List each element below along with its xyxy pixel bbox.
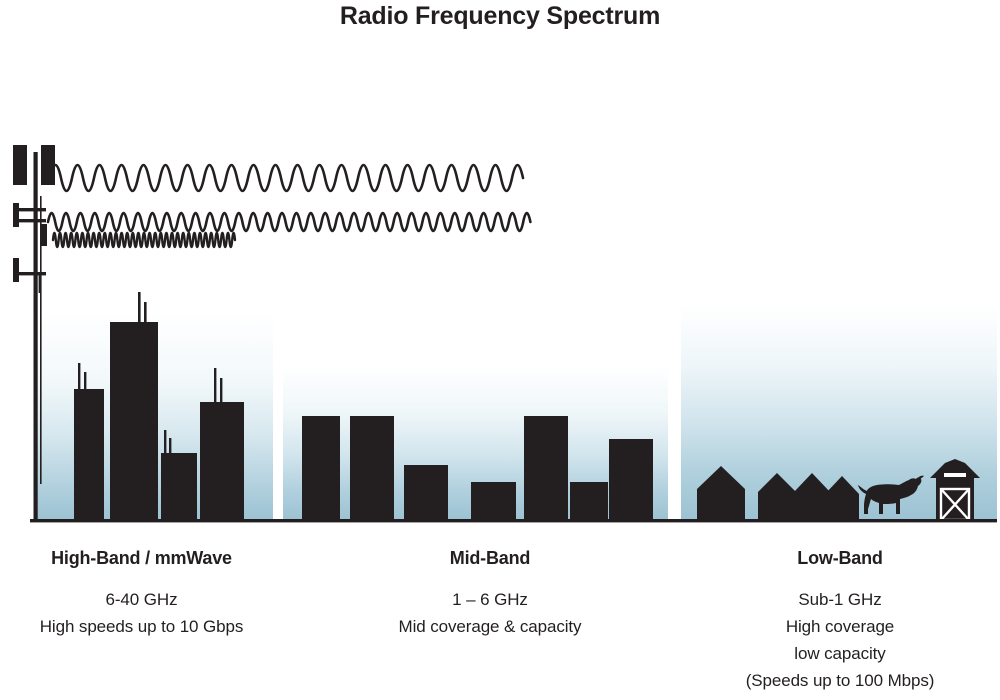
high-frequency-wave <box>53 233 235 247</box>
building-spire <box>220 378 222 404</box>
band-frequency: 1 – 6 GHz <box>340 586 640 613</box>
mid-rise-building <box>471 482 516 520</box>
tower-crossarm-upper-2 <box>17 219 46 222</box>
mid-rise-building <box>570 482 608 520</box>
mid-rise-building <box>404 465 448 520</box>
tower-base-stub <box>39 275 42 293</box>
band-label-low-band: Low-Band <box>680 548 1000 569</box>
band-capacity: low capacity <box>680 640 1000 667</box>
ground-line <box>30 519 997 522</box>
mid-rise-building <box>350 416 394 520</box>
skyscraper <box>110 322 158 520</box>
antenna-panel-middle <box>41 224 47 246</box>
mid-rise-building <box>609 439 653 520</box>
antenna-panel-upper-left <box>13 203 19 227</box>
mid-rise-building <box>524 416 568 520</box>
low-frequency-wave <box>50 165 523 191</box>
band-coverage: High coverage <box>680 613 1000 640</box>
band-frequency: Sub-1 GHz <box>680 586 1000 613</box>
band-detail-mid-band: 1 – 6 GHz Mid coverage & capacity <box>340 586 640 640</box>
building-spire <box>138 292 141 327</box>
mid-rise-building <box>302 416 340 520</box>
band-description: Mid coverage & capacity <box>340 613 640 640</box>
infographic-page: Radio Frequency Spectrum <box>0 0 1000 700</box>
radio-waves <box>48 165 530 247</box>
barn-hayloft-window <box>944 473 966 477</box>
caption-mid-band: Mid-Band 1 – 6 GHz Mid coverage & capaci… <box>340 548 640 640</box>
spectrum-diagram <box>0 0 1000 540</box>
band-description: High speeds up to 10 Gbps <box>0 613 283 640</box>
tower-crossarm-upper <box>17 208 46 211</box>
antenna-panel-top-right <box>41 145 55 185</box>
skyscraper <box>161 453 197 520</box>
band-frequency: 6-40 GHz <box>0 586 283 613</box>
antenna-panel-lower-left <box>13 258 19 282</box>
mid-frequency-wave <box>48 213 530 231</box>
tower-mast <box>34 152 38 520</box>
building-spire <box>214 368 216 404</box>
building-spire <box>164 430 166 456</box>
band-speed: (Speeds up to 100 Mbps) <box>680 667 1000 694</box>
skyscraper <box>74 389 104 520</box>
band-label-mid-band: Mid-Band <box>340 548 640 569</box>
antenna-panel-top-left <box>13 145 27 185</box>
band-detail-low-band: Sub-1 GHz High coverage low capacity (Sp… <box>680 586 1000 694</box>
caption-high-band: High-Band / mmWave 6-40 GHz High speeds … <box>0 548 283 640</box>
band-detail-high-band: 6-40 GHz High speeds up to 10 Gbps <box>0 586 283 640</box>
caption-low-band: Low-Band Sub-1 GHz High coverage low cap… <box>680 548 1000 694</box>
band-label-high-band: High-Band / mmWave <box>0 548 283 569</box>
skyscraper <box>200 402 244 520</box>
